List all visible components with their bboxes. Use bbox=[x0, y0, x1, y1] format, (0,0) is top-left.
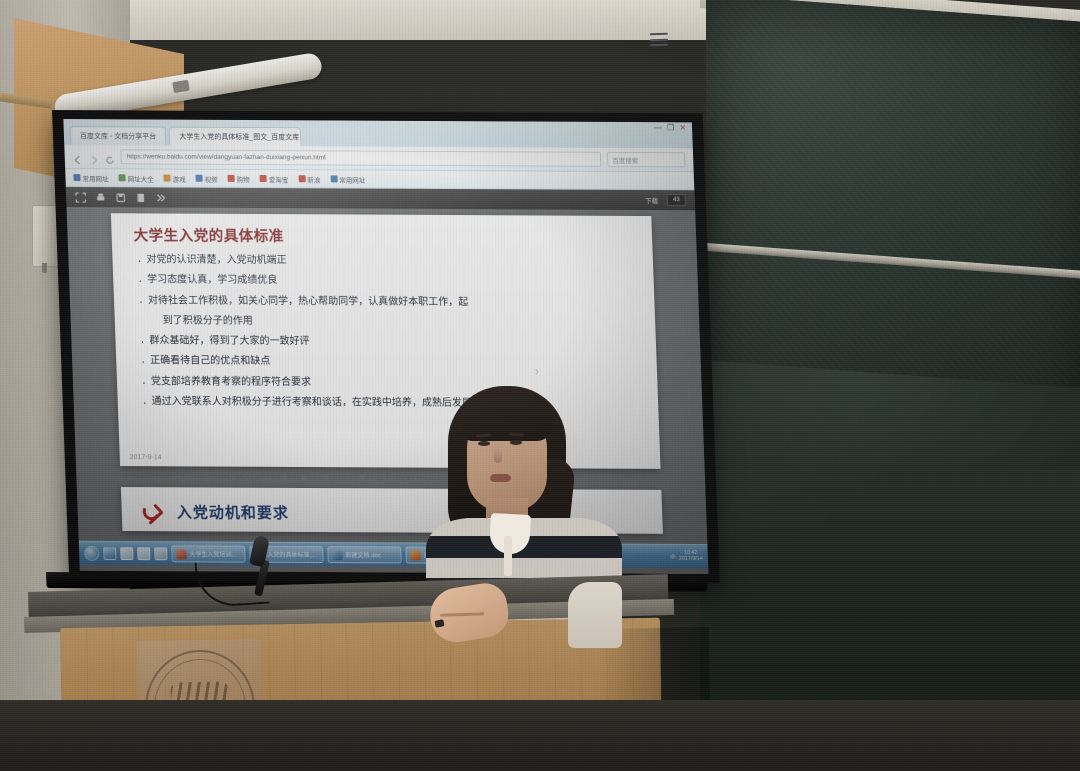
bookmark-favicon bbox=[118, 174, 125, 181]
address-bar-text: https://wenku.baidu.com/view/dangyuan-fa… bbox=[127, 153, 326, 161]
bookmark-item[interactable]: 爱淘宝 bbox=[259, 174, 288, 184]
bookmark-label: 网址大全 bbox=[127, 173, 153, 183]
right-arm bbox=[568, 582, 622, 648]
next-slide-title: 入党动机和要求 bbox=[176, 501, 289, 523]
bookmark-label: 爱淘宝 bbox=[268, 174, 288, 184]
next-page-chevron-icon[interactable]: › bbox=[534, 363, 539, 378]
reload-icon[interactable] bbox=[105, 152, 115, 162]
system-tray[interactable]: 中 10:42 2017/9/14 bbox=[670, 551, 703, 563]
bookmark-favicon bbox=[195, 175, 202, 182]
slide-bullet: 对待社会工作积极，如关心同学，热心帮助同学，认真做好本职工作，起 bbox=[136, 295, 639, 309]
bookmark-favicon bbox=[163, 175, 170, 182]
clock-date: 2017/9/14 bbox=[679, 556, 703, 562]
powerpoint-icon bbox=[176, 549, 186, 559]
bookmark-favicon bbox=[73, 174, 80, 181]
slide-bullet: 学习态度认真，学习成绩优良 bbox=[135, 275, 638, 289]
minimize-button[interactable]: — bbox=[654, 123, 662, 132]
bookmark-favicon bbox=[260, 175, 267, 182]
browser-tab-label: 大学生入党的具体标准_图文_百度文库 bbox=[179, 132, 299, 143]
slide-date-stamp: 2017-9-14 bbox=[130, 454, 162, 461]
bookmark-favicon bbox=[298, 175, 305, 182]
hamburger-menu-icon[interactable] bbox=[650, 33, 668, 47]
floor bbox=[0, 700, 1080, 771]
bookmark-item[interactable]: 常用网址 bbox=[330, 174, 365, 184]
search-input[interactable]: 百度搜索 bbox=[607, 152, 686, 167]
bookmark-label: 视频 bbox=[204, 173, 217, 183]
slide-title: 大学生入党的具体标准 bbox=[133, 224, 636, 248]
browser-tab[interactable]: 百度文库 - 文档分享平台 bbox=[70, 126, 167, 145]
bookmark-item[interactable]: 网址大全 bbox=[118, 173, 153, 183]
quick-launch-media-icon[interactable] bbox=[137, 547, 150, 560]
printer-icon[interactable] bbox=[95, 192, 106, 203]
word-icon bbox=[332, 550, 342, 560]
bookmark-item[interactable]: 视频 bbox=[195, 173, 217, 183]
bookmark-favicon bbox=[330, 175, 337, 182]
note-book-icon[interactable] bbox=[135, 192, 146, 203]
bookmark-item[interactable]: 新浪 bbox=[298, 174, 320, 184]
back-arrow-icon[interactable] bbox=[73, 152, 83, 162]
eye-right bbox=[510, 440, 522, 445]
taskbar-button[interactable]: 新建文档.doc bbox=[327, 546, 402, 563]
quick-launch-more-icon[interactable] bbox=[154, 547, 167, 560]
fullscreen-expand-icon[interactable] bbox=[75, 192, 86, 203]
bookmark-label: 常用网址 bbox=[339, 174, 365, 184]
search-placeholder: 百度搜索 bbox=[612, 154, 638, 164]
bookmark-label: 常用网址 bbox=[82, 173, 108, 183]
toolbar-spacer bbox=[175, 198, 636, 200]
classroom-scene: 百度文库 - 文档分享平台 大学生入党的具体标准_图文_百度文库 — ❐ ✕ bbox=[0, 0, 1080, 771]
mouth bbox=[490, 474, 511, 482]
bookmark-label: 购物 bbox=[236, 173, 249, 183]
bookmark-item[interactable]: 购物 bbox=[227, 173, 249, 183]
address-bar[interactable]: https://wenku.baidu.com/view/dangyuan-fa… bbox=[120, 149, 601, 167]
nose bbox=[494, 448, 502, 463]
taskbar-button-label: 入党的具体标准... bbox=[267, 550, 314, 559]
browser-tab-strip: 百度文库 - 文档分享平台 大学生入党的具体标准_图文_百度文库 — ❐ ✕ bbox=[63, 119, 692, 148]
quick-launch-ie-icon[interactable] bbox=[103, 547, 116, 560]
close-button[interactable]: ✕ bbox=[679, 123, 686, 132]
bookmark-item[interactable]: 常用网址 bbox=[73, 173, 108, 183]
taskbar-button-label: 大学生入党培训... bbox=[189, 549, 236, 558]
bookmark-favicon bbox=[227, 175, 234, 182]
hammer-and-sickle-emblem bbox=[141, 500, 168, 524]
bookmark-item[interactable]: 游戏 bbox=[163, 173, 185, 183]
save-icon[interactable] bbox=[115, 192, 126, 203]
browser-tab-label: 百度文库 - 文档分享平台 bbox=[80, 131, 157, 141]
eye-left bbox=[478, 441, 490, 446]
page-indicator[interactable]: 43 bbox=[667, 194, 686, 206]
maximize-button[interactable]: ❐ bbox=[667, 123, 675, 132]
browser-tab-active[interactable]: 大学生入党的具体标准_图文_百度文库 bbox=[169, 127, 302, 147]
slide-bullet: 正确看待自己的优点和缺点 bbox=[138, 356, 641, 370]
window-controls: — ❐ ✕ bbox=[654, 123, 686, 132]
download-label[interactable]: 下载 bbox=[645, 195, 658, 205]
forward-arrow-icon[interactable] bbox=[89, 152, 99, 162]
chevron-double-right-icon[interactable] bbox=[155, 192, 166, 203]
taskbar-clock[interactable]: 10:42 2017/9/14 bbox=[679, 551, 703, 562]
bookmark-label: 游戏 bbox=[172, 173, 185, 183]
slide-bullet: 群众基础好，得到了大家的一致好评 bbox=[137, 335, 640, 349]
quick-launch-explorer-icon[interactable] bbox=[120, 547, 133, 560]
taskbar-button-label: 新建文档.doc bbox=[345, 550, 381, 559]
start-orb-button[interactable] bbox=[84, 546, 100, 561]
polo-placket bbox=[504, 536, 512, 576]
browser-nav-bar: https://wenku.baidu.com/view/dangyuan-fa… bbox=[64, 145, 693, 172]
slide-bullet: 对党的认识清楚，入党动机端正 bbox=[134, 254, 637, 268]
bookmark-label: 新浪 bbox=[307, 174, 320, 184]
ime-indicator[interactable]: 中 bbox=[670, 552, 676, 560]
slide-bullet-continuation: 到了积极分子的作用 bbox=[137, 315, 640, 329]
